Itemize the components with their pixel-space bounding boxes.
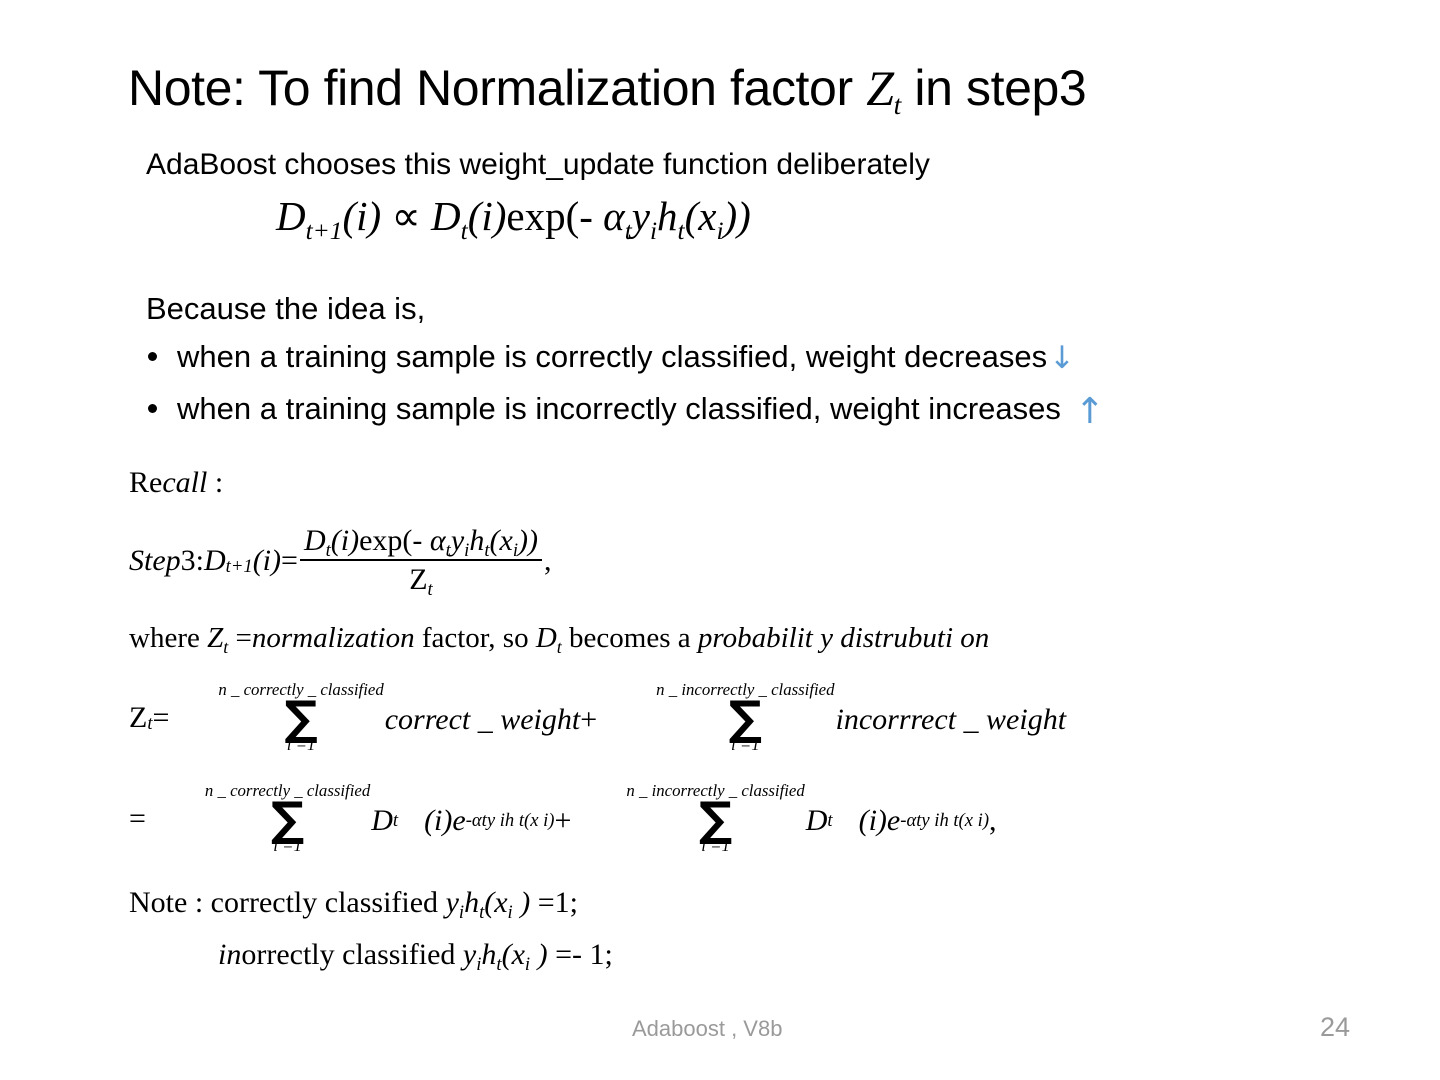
note1-arg-close: ): [513, 886, 531, 919]
eq-main-alpha-sub: t: [625, 217, 632, 245]
step3-number: 3: [181, 544, 196, 578]
num-var: D: [304, 524, 326, 557]
because-heading: Because the idea is,: [146, 291, 425, 327]
eq-main-h-sub: t: [678, 217, 685, 245]
den-var: Z: [409, 563, 427, 596]
sum2-plus: +: [554, 804, 571, 838]
note1-arg-open: (x: [484, 886, 507, 919]
note-label: Note: [129, 886, 187, 919]
where-becomes: becomes a: [562, 622, 698, 654]
sum2-t2-d: D: [806, 804, 828, 838]
summation-incorrect: n _ incorrectly _ classified ∑ i =1: [656, 682, 834, 754]
equation-step3: Step3 : Dt+1(i) = Dt(i)exp(- αtyiht(xi))…: [129, 524, 551, 597]
note1-y: y: [446, 886, 459, 919]
list-item: when a training sample is correctly clas…: [148, 339, 1075, 375]
where-word: where: [129, 622, 207, 654]
eq-main-rhs-sub: t: [461, 217, 468, 245]
title-text-before: Note: To find Normalization factor: [128, 60, 866, 116]
sum2-t2-arg: (i): [859, 804, 887, 838]
bullet-dot-icon: [148, 404, 157, 413]
eq-main-close: )): [724, 193, 751, 239]
sum2-equals: =: [129, 802, 146, 836]
num-h-sub: t: [484, 540, 489, 561]
note2-h-sub: t: [496, 954, 501, 975]
eq-main-exp: exp(: [506, 193, 579, 239]
where-factor: factor, so: [415, 622, 536, 654]
where-d: D: [536, 622, 557, 654]
num-alpha-sub: t: [446, 540, 451, 561]
eq-main-minus: -: [579, 193, 593, 239]
bullet-dot-icon: [148, 352, 157, 361]
recall-label-colon: :: [207, 466, 223, 499]
step3-trailing-comma: ,: [544, 544, 552, 578]
step3-lhs-var: D: [204, 544, 226, 578]
equation-weight-update: Dt+1(i) ∝ Dt(i)exp(- αtyiht(xi)): [276, 192, 751, 240]
note-line-incorrect: inorrectly classified yiht(xi ) =- 1;: [218, 938, 613, 972]
num-var-sub: t: [326, 540, 331, 561]
note1-h: h: [464, 886, 479, 919]
equation-zt-sum-expanded: = n _ correctly _ classified ∑ i =1 Dt (…: [129, 783, 997, 855]
eq-main-y: y: [632, 193, 650, 239]
equation-zt-sum: Zt = n _ correctly _ classified ∑ i =1 c…: [129, 682, 1066, 754]
summation-incorrect-expanded: n _ incorrectly _ classified ∑ i =1: [626, 783, 804, 855]
step3-fraction: Dt(i)exp(- αtyiht(xi)) Zt: [300, 524, 542, 597]
sigma-icon: ∑: [271, 797, 304, 841]
step3-lhs-arg: (i): [253, 544, 281, 578]
sigma-icon: ∑: [284, 696, 317, 740]
note-line-correct: Note : correctly classified yiht(xi ) =1…: [129, 886, 578, 920]
num-h: h: [469, 524, 484, 557]
title-symbol-subscript: t: [894, 89, 901, 120]
note2-arg-close: ): [530, 938, 548, 971]
step3-denominator: Zt: [405, 561, 437, 597]
eq-main-lhs-var: D: [276, 193, 306, 239]
eq-main-x-open: (x: [685, 193, 717, 239]
sigma-icon: ∑: [729, 696, 762, 740]
sum1-equals: =: [153, 701, 170, 735]
sum2-t2-e: e: [887, 804, 900, 838]
eq-main-lhs-sub: t+1: [306, 217, 343, 245]
sum2-trailing-comma: ,: [989, 804, 997, 838]
sum1-t1-limit-bottom: i =1: [287, 737, 316, 754]
where-d-sub: t: [557, 637, 562, 657]
num-exp: exp(: [359, 524, 412, 557]
note2-text: orrectly classified: [241, 938, 463, 971]
num-y: y: [451, 524, 464, 557]
sum1-t2-limit-bottom: i =1: [731, 737, 760, 754]
page-number: 24: [1320, 1012, 1350, 1043]
num-y-sub: i: [464, 540, 469, 561]
note2-h: h: [481, 938, 496, 971]
sum1-t2-body: incorrrect _ weight: [836, 703, 1067, 737]
title-symbol-Z: Z: [866, 60, 893, 116]
page-title: Note: To find Normalization factor Zt in…: [128, 62, 1328, 115]
recall-label-upright: Re: [129, 466, 162, 499]
note2-arg-open: (x: [502, 938, 525, 971]
where-z-sub: t: [223, 637, 228, 657]
note2-y-sub: i: [476, 954, 481, 975]
bullet-1-text: when a training sample is correctly clas…: [177, 339, 1047, 375]
note1-y-sub: i: [459, 902, 464, 923]
footer-label: Adaboost , V8b: [632, 1016, 782, 1042]
sum2-t1-e: e: [452, 804, 465, 838]
sum2-t1-limit-bottom: i =1: [273, 838, 302, 855]
summation-correct-expanded: n _ correctly _ classified ∑ i =1: [205, 783, 370, 855]
arrow-down-icon: ↓: [1049, 340, 1075, 376]
eq-main-rhs-var: D: [431, 193, 461, 239]
subtitle-text: AdaBoost chooses this weight_update func…: [146, 148, 930, 182]
sigma-icon: ∑: [699, 797, 732, 841]
note2-y: y: [463, 938, 476, 971]
num-minus: -: [412, 524, 422, 557]
step3-label: Step: [129, 544, 181, 578]
num-x-sub: i: [513, 540, 518, 561]
num-x-open: (x: [490, 524, 513, 557]
sum2-t1-d: D: [371, 804, 393, 838]
eq-main-x-sub: i: [716, 217, 723, 245]
where-equals: =: [228, 622, 252, 654]
note2-equals: =- 1;: [548, 938, 613, 971]
sum2-t2-limit-bottom: i =1: [701, 838, 730, 855]
eq-main-rhs-arg: (i): [468, 193, 507, 239]
note1-text: correctly classified: [211, 886, 446, 919]
sum1-lhs-var: Z: [129, 701, 147, 735]
eq-main-y-sub: i: [650, 217, 657, 245]
eq-main-alpha: α: [603, 193, 625, 239]
recall-label: Recall :: [129, 466, 223, 500]
note-colon: :: [187, 886, 210, 919]
slide-canvas: Note: To find Normalization factor Zt in…: [0, 0, 1440, 1080]
proportional-to-icon: ∝: [391, 193, 420, 239]
note1-h-sub: t: [479, 902, 484, 923]
note2-arg-sub: i: [525, 954, 530, 975]
sum1-t1-body: correct _ weight: [385, 703, 581, 737]
arrow-up-icon: ↑: [1075, 391, 1105, 432]
eq-main-lhs-arg: (i): [343, 193, 382, 239]
den-var-sub: t: [428, 579, 433, 600]
list-item: when a training sample is incorrectly cl…: [148, 387, 1105, 428]
sum1-plus: +: [580, 703, 597, 737]
bullet-2-text: when a training sample is incorrectly cl…: [177, 391, 1061, 427]
note2-label-italic: in: [218, 938, 241, 971]
title-text-after: in step3: [901, 60, 1086, 116]
sum2-t1-arg: (i): [424, 804, 452, 838]
step3-equals: =: [281, 544, 298, 578]
num-alpha: α: [430, 524, 446, 557]
where-line: where Zt =normalization factor, so Dt be…: [129, 622, 989, 655]
note1-arg-sub: i: [508, 902, 513, 923]
where-normalization: normalization: [252, 622, 415, 654]
num-close: )): [518, 524, 538, 557]
where-probability: probabilit y distrubuti on: [698, 622, 989, 654]
note1-equals: =1;: [530, 886, 578, 919]
step3-numerator: Dt(i)exp(- αtyiht(xi)): [300, 524, 542, 559]
where-z: Z: [207, 622, 223, 654]
num-arg: (i): [331, 524, 359, 557]
eq-main-h: h: [657, 193, 678, 239]
step3-colon: :: [196, 544, 204, 578]
summation-correct: n _ correctly _ classified ∑ i =1: [218, 682, 383, 754]
recall-label-italic: call: [162, 466, 207, 499]
